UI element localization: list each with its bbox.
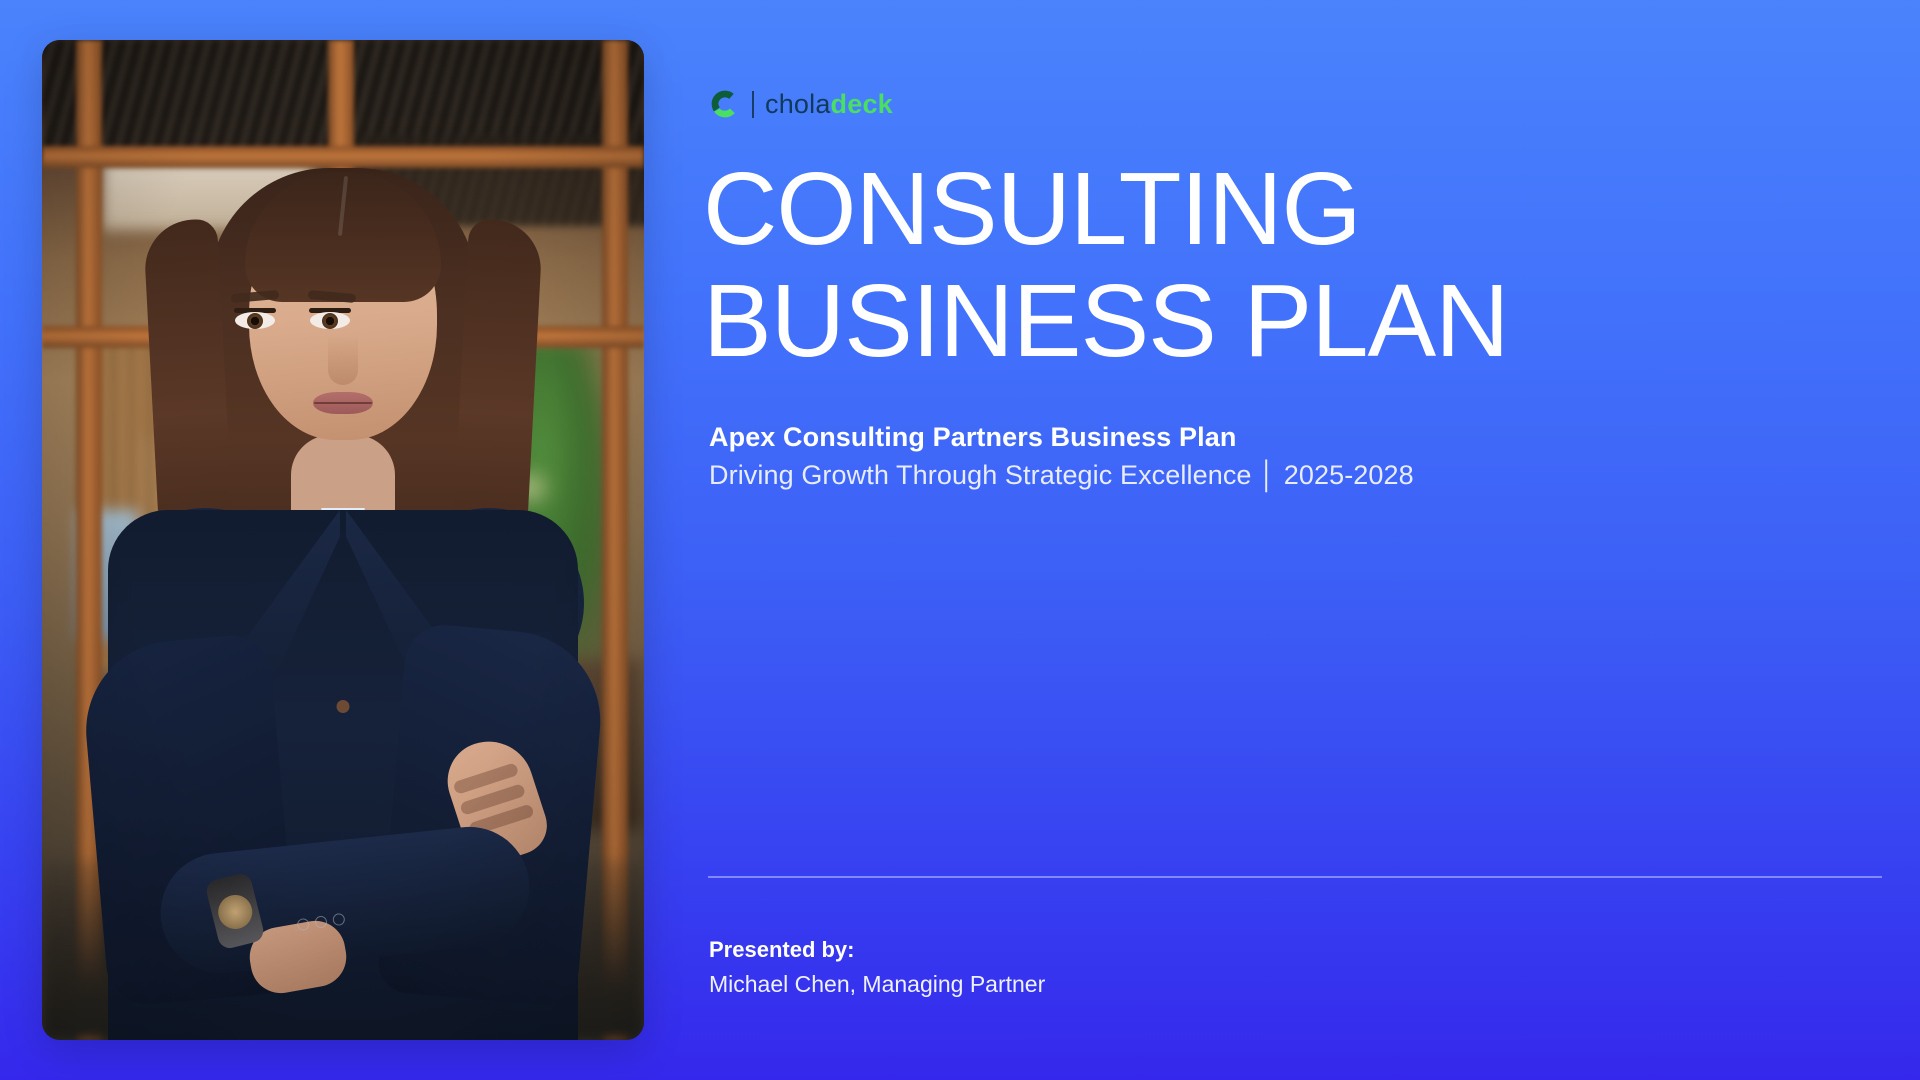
section-divider [708,876,1882,878]
hero-photo [42,40,644,1040]
hero-photo-canvas [42,40,644,1040]
eye-right [310,312,350,329]
chola-c-mark-icon [709,88,741,120]
slide-content: choladeck CONSULTING BUSINESS PLAN Apex … [709,0,1876,1080]
subtitle-primary: Apex Consulting Partners Business Plan [709,422,1236,453]
lip-line [314,402,372,404]
brand-logo[interactable]: choladeck [709,88,893,120]
subject-person [42,40,644,1040]
cuff-button-1 [296,918,310,932]
cuff-button-3 [332,913,346,927]
cuff-button-2 [314,915,328,929]
logo-word-chola: chola [765,89,831,119]
blazer-button [337,700,350,713]
logo-divider [752,91,754,118]
watch-face [215,892,256,933]
iris-right [322,313,338,329]
presentation-slide: choladeck CONSULTING BUSINESS PLAN Apex … [0,0,1920,1080]
presented-by-label: Presented by: [709,937,855,963]
presenter-name: Michael Chen, Managing Partner [709,971,1045,998]
page-title: CONSULTING BUSINESS PLAN [703,153,1509,378]
logo-word-deck: deck [831,89,893,119]
logo-wordmark: choladeck [765,91,893,118]
iris-left [247,313,263,329]
subtitle-secondary: Driving Growth Through Strategic Excelle… [709,460,1414,491]
nose [328,335,358,385]
eye-left [235,312,275,329]
